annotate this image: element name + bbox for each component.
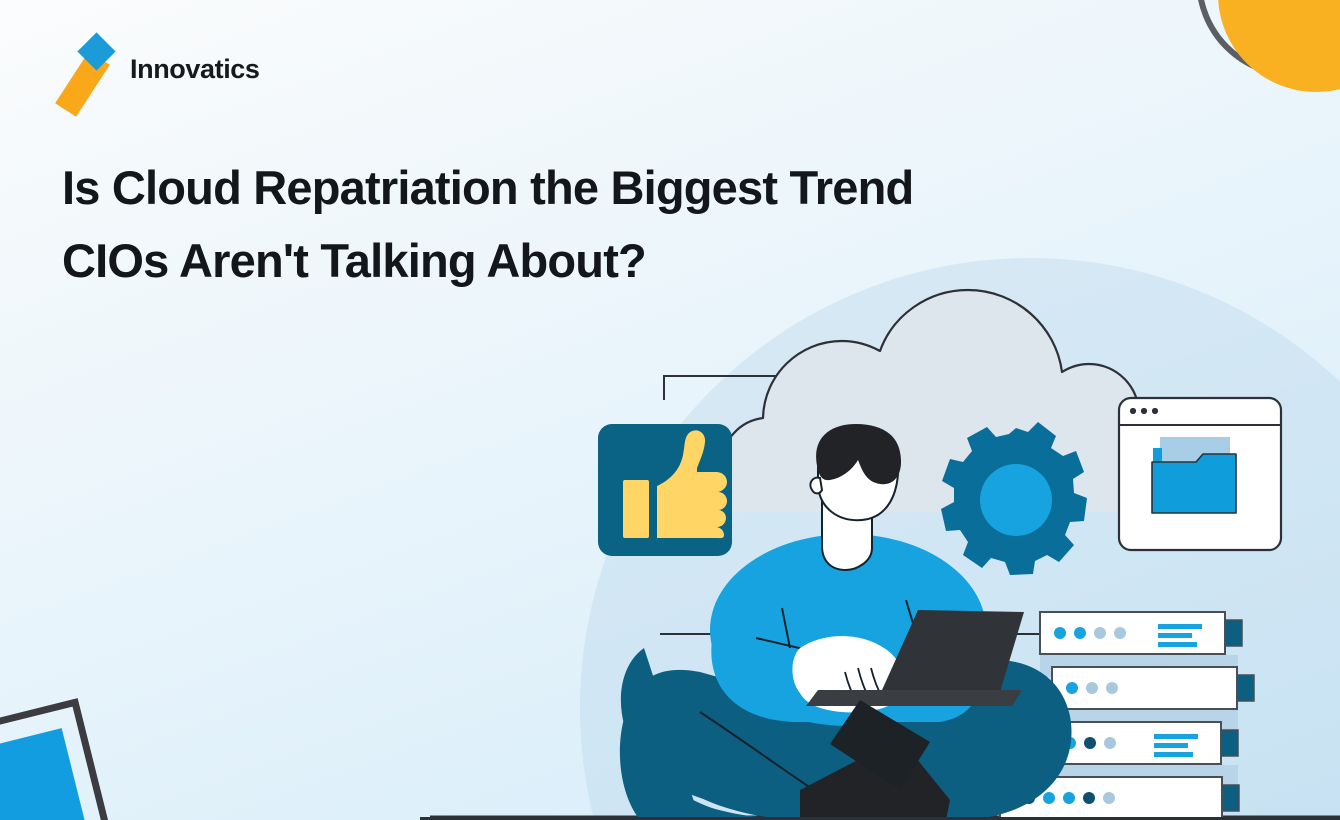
innovatics-diamond-bar-logo-icon	[62, 38, 114, 100]
brand-logo[interactable]: Innovatics	[62, 38, 260, 100]
brand-name: Innovatics	[130, 54, 260, 85]
page-title: Is Cloud Repatriation the Biggest Trend …	[62, 152, 1112, 298]
page-title-line-2: CIOs Aren't Talking About?	[62, 225, 1112, 298]
banner-root: Innovatics Is Cloud Repatriation the Big…	[0, 0, 1340, 820]
page-title-line-1: Is Cloud Repatriation the Biggest Trend	[62, 152, 1112, 225]
decor-circle-yellow-top-right	[1218, 0, 1340, 92]
soft-backdrop-circle	[580, 258, 1340, 820]
